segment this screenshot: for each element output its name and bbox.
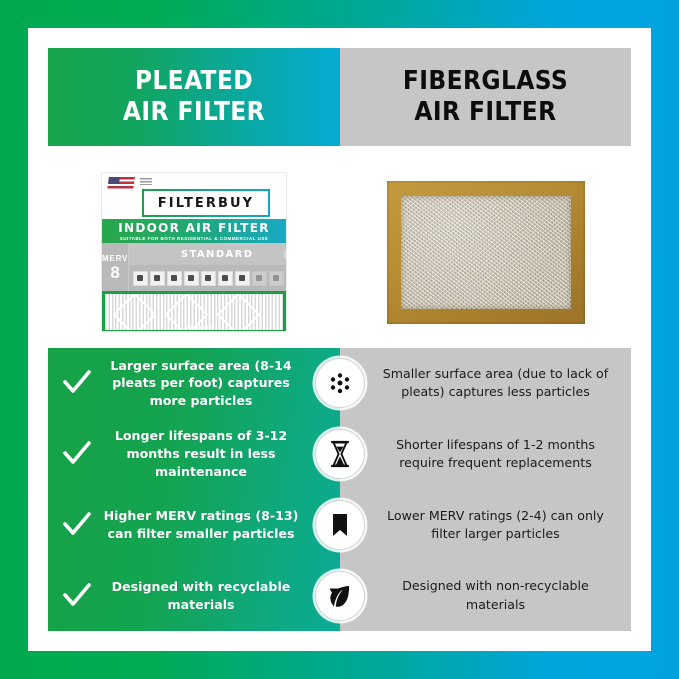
row-1-pleated-cell: Larger surface area (8-14 pleats per foo… bbox=[48, 348, 340, 419]
feature-icon-dust bbox=[133, 271, 148, 286]
barcode-icon bbox=[140, 178, 152, 185]
row-3-fiberglass-text: Lower MERV ratings (2-4) can only filter… bbox=[374, 507, 617, 544]
us-flag-icon bbox=[107, 177, 135, 191]
feature-icon-lint bbox=[150, 271, 165, 286]
fiberglass-media bbox=[401, 196, 571, 309]
table-row: Designed with recyclable materials Desig… bbox=[48, 560, 631, 631]
header-fiberglass-line1: FIBERGLASS bbox=[403, 66, 568, 97]
row-1-pleated-text: Larger surface area (8-14 pleats per foo… bbox=[94, 357, 308, 411]
header-band: PLEATED AIR FILTER FIBERGLASS AIR FILTER bbox=[48, 48, 631, 146]
pleat-support-grid bbox=[105, 294, 283, 330]
row-2-pleated-cell: Longer lifespans of 3-12 months result i… bbox=[48, 419, 340, 490]
feature-icon-smoke bbox=[235, 271, 250, 286]
pleated-media-frame: FILTERBUY bbox=[102, 291, 286, 332]
merv-label: MERV bbox=[102, 254, 128, 263]
row-4-fiberglass-text: Designed with non-recyclable materials bbox=[374, 577, 617, 614]
filterbuy-logo: FILTERBUY bbox=[142, 189, 270, 217]
filterbuy-logo-text: FILTERBUY bbox=[158, 196, 254, 211]
feature-icon-bacteria bbox=[218, 271, 233, 286]
pleat-diamond bbox=[217, 294, 261, 330]
pleated-product-cell: FILTERBUY INDOOR AIR FILTER SUITABLE FOR… bbox=[48, 156, 340, 348]
particles-icon bbox=[315, 358, 365, 408]
header-fiberglass-line2: AIR FILTER bbox=[403, 97, 568, 128]
row-4-pleated-cell: Designed with recyclable materials bbox=[48, 560, 340, 631]
pleated-media bbox=[105, 294, 283, 330]
row-2-fiberglass-text: Shorter lifespans of 1-2 months require … bbox=[374, 436, 617, 473]
header-fiberglass-title: FIBERGLASS AIR FILTER bbox=[403, 66, 568, 127]
product-band-subtitle: SUITABLE FOR BOTH RESIDENTIAL & COMMERCI… bbox=[102, 236, 286, 241]
comparison-rows: Larger surface area (8-14 pleats per foo… bbox=[48, 348, 631, 631]
row-3-pleated-cell: Higher MERV ratings (8-13) can filter sm… bbox=[48, 490, 340, 561]
feature-icon-mold bbox=[184, 271, 199, 286]
checkmark-icon bbox=[60, 437, 94, 471]
product-grade-text: STANDARD bbox=[181, 249, 254, 260]
fiberglass-product-cell bbox=[340, 156, 631, 348]
pleat-diamond bbox=[113, 294, 157, 330]
header-pleated-line1: PLEATED bbox=[123, 66, 265, 97]
product-feature-icons bbox=[129, 265, 287, 291]
hourglass-icon bbox=[315, 429, 365, 479]
table-row: Longer lifespans of 3-12 months result i… bbox=[48, 419, 631, 490]
leaf-icon bbox=[315, 571, 365, 621]
feature-icon-pet-dander bbox=[201, 271, 216, 286]
header-fiberglass: FIBERGLASS AIR FILTER bbox=[340, 48, 631, 146]
feature-icon-pollen bbox=[167, 271, 182, 286]
row-2-pleated-text: Longer lifespans of 3-12 months result i… bbox=[94, 427, 308, 481]
table-row: Larger surface area (8-14 pleats per foo… bbox=[48, 348, 631, 419]
product-grade-bar: STANDARD bbox=[129, 243, 287, 265]
merv-value: 8 bbox=[110, 264, 119, 281]
comparison-table: Larger surface area (8-14 pleats per foo… bbox=[48, 348, 631, 631]
row-4-fiberglass-cell: Designed with non-recyclable materials bbox=[340, 560, 631, 631]
checkmark-icon bbox=[60, 508, 94, 542]
row-3-fiberglass-cell: Lower MERV ratings (2-4) can only filter… bbox=[340, 490, 631, 561]
row-1-fiberglass-cell: Smaller surface area (due to lack of ple… bbox=[340, 348, 631, 419]
product-spec-strip: MERV 8 STANDARD bbox=[102, 243, 286, 291]
pleated-filter-photo: FILTERBUY INDOOR AIR FILTER SUITABLE FOR… bbox=[101, 172, 287, 332]
checkmark-icon bbox=[60, 579, 94, 613]
product-image-row: FILTERBUY INDOOR AIR FILTER SUITABLE FOR… bbox=[48, 156, 631, 348]
row-3-pleated-text: Higher MERV ratings (8-13) can filter sm… bbox=[94, 507, 308, 543]
header-pleated-line2: AIR FILTER bbox=[123, 97, 265, 128]
pleat-diamond bbox=[165, 294, 209, 330]
row-1-fiberglass-text: Smaller surface area (due to lack of ple… bbox=[374, 365, 617, 402]
header-pleated: PLEATED AIR FILTER bbox=[48, 48, 340, 146]
table-row: Higher MERV ratings (8-13) can filter sm… bbox=[48, 490, 631, 561]
row-4-pleated-text: Designed with recyclable materials bbox=[94, 578, 308, 614]
feature-icon-virus bbox=[252, 271, 267, 286]
fiberglass-filter-photo bbox=[387, 181, 585, 324]
white-card: PLEATED AIR FILTER FIBERGLASS AIR FILTER… bbox=[28, 28, 651, 651]
product-spec-right: STANDARD bbox=[129, 243, 287, 291]
row-2-fiberglass-cell: Shorter lifespans of 1-2 months require … bbox=[340, 419, 631, 490]
product-band: INDOOR AIR FILTER SUITABLE FOR BOTH RESI… bbox=[102, 219, 286, 243]
merv-badge: MERV 8 bbox=[102, 243, 129, 291]
filter-footer-brand: FILTERBUY bbox=[102, 326, 286, 332]
infographic-root: PLEATED AIR FILTER FIBERGLASS AIR FILTER… bbox=[0, 0, 679, 679]
feature-icon-voc bbox=[286, 271, 287, 286]
header-pleated-title: PLEATED AIR FILTER bbox=[123, 66, 265, 127]
bookmark-icon bbox=[315, 500, 365, 550]
feature-icon-odor bbox=[269, 271, 284, 286]
checkmark-icon bbox=[60, 366, 94, 400]
certification-icon bbox=[284, 247, 287, 262]
product-band-title: INDOOR AIR FILTER bbox=[102, 219, 286, 235]
